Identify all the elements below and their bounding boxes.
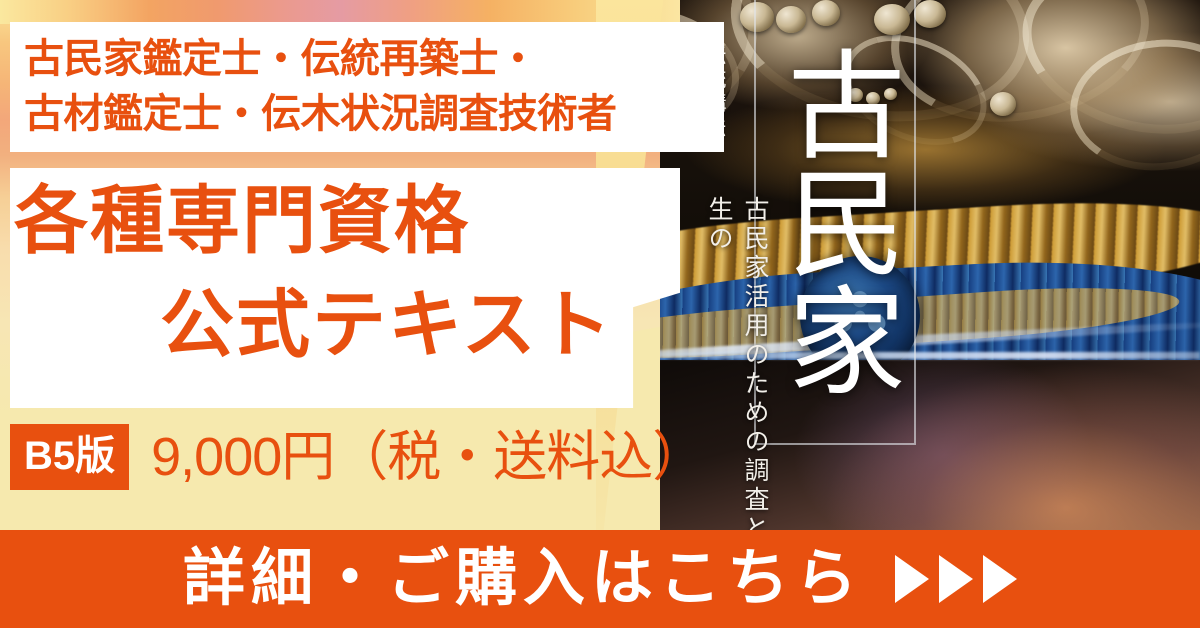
promo-banner: 伝統構法 古民家活用のための調査と再生の 古民家 古民家鑑定士・伝統再築士・ 古… bbox=[0, 0, 1200, 628]
price-row: B5版 9,000円（税・送料込） bbox=[10, 424, 705, 490]
carving-bead bbox=[914, 0, 946, 28]
cta-label: 詳細・ご購入はこちら bbox=[183, 548, 863, 610]
cta-arrow-group bbox=[895, 555, 1017, 603]
price-amount: 9,000円（税・送料込） bbox=[151, 430, 705, 484]
qualifications-panel: 古民家鑑定士・伝統再築士・ 古材鑑定士・伝木状況調査技術者 bbox=[10, 22, 724, 152]
play-arrow-icon bbox=[895, 555, 929, 603]
top-gradient-strip bbox=[0, 0, 680, 24]
cta-bar[interactable]: 詳細・ご購入はこちら bbox=[0, 530, 1200, 628]
headline-line-2: 公式テキスト bbox=[160, 288, 614, 362]
cover-title: 古民家 bbox=[766, 6, 906, 436]
qualifications-text: 古民家鑑定士・伝統再築士・ 古材鑑定士・伝木状況調査技術者 bbox=[24, 32, 617, 142]
play-arrow-icon bbox=[983, 555, 1017, 603]
headline-line-1: 各種専門資格 bbox=[14, 184, 470, 258]
format-badge: B5版 bbox=[10, 424, 129, 490]
play-arrow-icon bbox=[939, 555, 973, 603]
carving-bead bbox=[990, 92, 1016, 116]
